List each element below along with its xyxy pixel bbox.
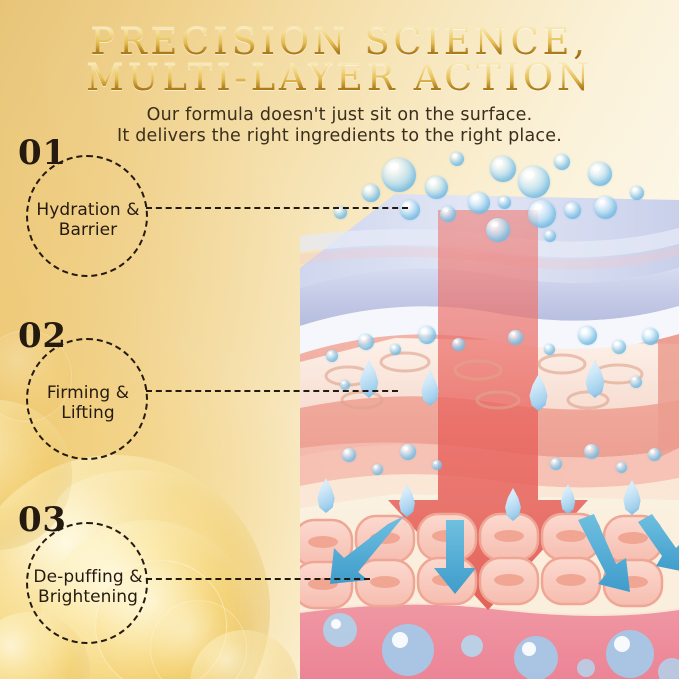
surface-bubble bbox=[528, 200, 556, 228]
surface-bubble bbox=[450, 152, 464, 166]
callout-03[interactable]: 03 De-puffing & Brightening bbox=[26, 522, 148, 644]
skin-cross-section-illustration bbox=[300, 148, 679, 679]
surface-bubble bbox=[490, 156, 516, 182]
mid-bubble bbox=[452, 338, 465, 351]
callout-label-01-line1: Hydration & bbox=[36, 200, 139, 220]
callout-label-03-line2: Brightening bbox=[38, 587, 138, 607]
subtitle-line-1: Our formula doesn't just sit on the surf… bbox=[0, 104, 679, 126]
surface-bubble bbox=[425, 176, 448, 199]
connector-line-01 bbox=[146, 207, 408, 209]
mid-bubble bbox=[642, 328, 659, 345]
callout-label-02-line1: Firming & bbox=[47, 383, 129, 403]
callout-label-01-line2: Barrier bbox=[59, 220, 118, 240]
surface-bubble bbox=[498, 196, 511, 209]
callout-label-02-line2: Lifting bbox=[61, 403, 114, 423]
callout-number-03: 03 bbox=[18, 500, 67, 540]
surface-bubble bbox=[400, 200, 420, 220]
surface-bubble bbox=[486, 218, 510, 242]
mid-bubble bbox=[418, 326, 436, 344]
mid-bubble bbox=[432, 460, 442, 470]
mid-bubble bbox=[508, 330, 523, 345]
mid-bubble bbox=[340, 380, 350, 390]
oil-bubble-decoration bbox=[190, 630, 298, 679]
surface-bubble bbox=[564, 202, 581, 219]
mid-bubble bbox=[612, 340, 626, 354]
callout-label-03-line1: De-puffing & bbox=[33, 567, 142, 587]
surface-bubble bbox=[594, 196, 617, 219]
callout-number-01: 01 bbox=[18, 133, 67, 173]
surface-bubble bbox=[518, 166, 550, 198]
mid-bubble bbox=[390, 344, 401, 355]
mid-bubble bbox=[400, 444, 416, 460]
mid-bubble bbox=[630, 376, 642, 388]
mid-bubble bbox=[342, 448, 356, 462]
mid-bubble bbox=[578, 326, 597, 345]
callout-label-01: Hydration & Barrier bbox=[13, 201, 163, 240]
callout-02[interactable]: 02 Firming & Lifting bbox=[26, 338, 148, 460]
connector-line-02 bbox=[146, 390, 398, 392]
surface-bubble bbox=[382, 158, 416, 192]
mid-bubble bbox=[584, 444, 599, 459]
mid-bubble bbox=[648, 448, 661, 461]
surface-bubble bbox=[362, 184, 380, 202]
mid-bubble bbox=[358, 334, 374, 350]
surface-bubble bbox=[630, 186, 644, 200]
oil-bubble-decoration bbox=[150, 600, 247, 679]
mid-bubble bbox=[372, 464, 383, 475]
infographic-canvas: PRECISION SCIENCE, MULTI-LAYER ACTION Ou… bbox=[0, 0, 679, 679]
mid-bubble bbox=[550, 458, 562, 470]
callout-label-03: De-puffing & Brightening bbox=[13, 568, 163, 607]
surface-bubble bbox=[544, 230, 556, 242]
callout-01[interactable]: 01 Hydration & Barrier bbox=[26, 155, 148, 277]
page-title-line-2: MULTI-LAYER ACTION bbox=[0, 59, 679, 97]
callout-label-02: Firming & Lifting bbox=[13, 384, 163, 423]
surface-bubble bbox=[440, 206, 456, 222]
mid-bubble bbox=[616, 462, 627, 473]
subtitle-line-2: It delivers the right ingredients to the… bbox=[0, 125, 679, 147]
surface-bubble bbox=[468, 192, 490, 214]
surface-bubble bbox=[554, 154, 570, 170]
mid-bubble bbox=[326, 350, 338, 362]
surface-bubble bbox=[588, 162, 612, 186]
callout-number-02: 02 bbox=[18, 316, 67, 356]
connector-line-03 bbox=[146, 578, 370, 580]
mid-bubble bbox=[544, 344, 555, 355]
